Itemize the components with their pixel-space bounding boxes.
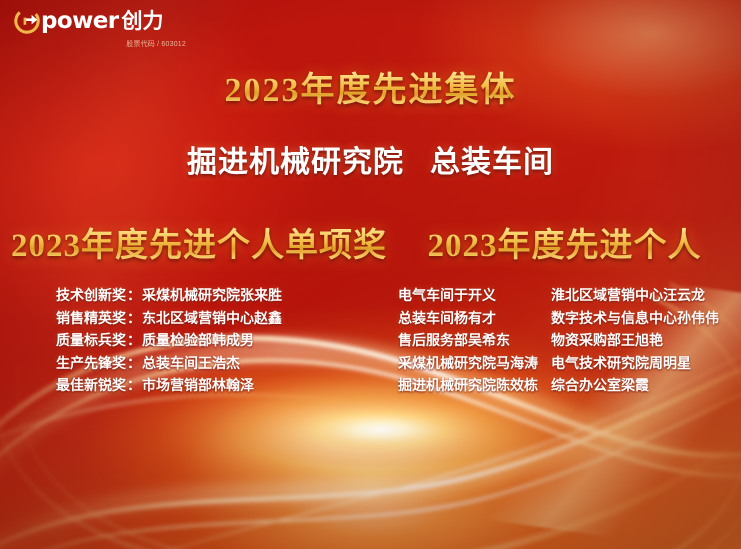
poster-content: 2023年度先进集体 掘进机械研究院总装车间 2023年度先进个人单项奖 202…	[0, 0, 741, 549]
heading-single-awards: 2023年度先进个人单项奖	[0, 218, 398, 266]
heading-advanced-individuals: 2023年度先进个人	[398, 218, 741, 266]
list-item: 总装车间杨有才 数字技术与信息中心孙伟伟	[398, 309, 741, 332]
winner-lists: 技术创新奖：采煤机械研究院张来胜 销售精英奖：东北区域营销中心赵鑫 质量标兵奖：…	[0, 286, 741, 399]
award-separator: ：	[127, 312, 141, 327]
page-title: 2023年度先进集体	[0, 62, 741, 111]
award-separator: ：	[127, 379, 141, 394]
logo-stock-code: 股票代码 / 603012	[14, 39, 186, 49]
award-recipient: 市场营销部林翰泽	[142, 379, 254, 394]
award-name: 生产先锋奖	[56, 357, 126, 372]
individual-name: 采煤机械研究院马海涛	[398, 354, 551, 377]
individual-name: 物资采购部王旭艳	[551, 331, 663, 354]
list-item: 销售精英奖：东北区域营销中心赵鑫	[56, 309, 398, 332]
individual-name: 电气技术研究院周明星	[551, 354, 691, 377]
award-poster: power 创力 股票代码 / 603012 2023年度先进集体 掘进机械研究…	[0, 0, 741, 549]
individual-name: 售后服务部吴希东	[398, 331, 551, 354]
individual-name: 电气车间于开义	[398, 286, 551, 309]
list-item: 售后服务部吴希东 物资采购部王旭艳	[398, 331, 741, 354]
award-name: 技术创新奖	[56, 289, 126, 304]
individual-name: 总装车间杨有才	[398, 309, 551, 332]
collective-winner-2: 总装车间	[430, 146, 554, 179]
logo-row: power 创力	[14, 8, 194, 34]
collective-winners: 掘进机械研究院总装车间	[0, 137, 741, 181]
award-name: 质量标兵奖	[56, 334, 126, 349]
award-recipient: 东北区域营销中心赵鑫	[142, 312, 282, 327]
award-separator: ：	[127, 289, 141, 304]
award-recipient: 采煤机械研究院张来胜	[142, 289, 282, 304]
company-logo: power 创力 股票代码 / 603012	[14, 8, 194, 49]
logo-wordmark: power	[41, 10, 118, 33]
award-name: 最佳新锐奖	[56, 379, 126, 394]
section-headings: 2023年度先进个人单项奖 2023年度先进个人	[0, 218, 741, 266]
list-item: 最佳新锐奖：市场营销部林翰泽	[56, 376, 398, 399]
award-separator: ：	[127, 334, 141, 349]
list-item: 电气车间于开义 淮北区域营销中心汪云龙	[398, 286, 741, 309]
list-item: 掘进机械研究院陈效栋 综合办公室梁霞	[398, 376, 741, 399]
award-recipient: 质量检验部韩成男	[142, 334, 254, 349]
list-item: 技术创新奖：采煤机械研究院张来胜	[56, 286, 398, 309]
award-name: 销售精英奖	[56, 312, 126, 327]
award-separator: ：	[127, 357, 141, 372]
list-item: 生产先锋奖：总装车间王浩杰	[56, 354, 398, 377]
advanced-individual-list: 电气车间于开义 淮北区域营销中心汪云龙 总装车间杨有才 数字技术与信息中心孙伟伟…	[398, 286, 741, 399]
list-item: 采煤机械研究院马海涛 电气技术研究院周明星	[398, 354, 741, 377]
list-item: 质量标兵奖：质量检验部韩成男	[56, 331, 398, 354]
individual-name: 掘进机械研究院陈效栋	[398, 376, 551, 399]
logo-wordmark-cn: 创力	[121, 11, 163, 32]
power-c-mark-icon	[14, 8, 40, 34]
individual-name: 淮北区域营销中心汪云龙	[551, 286, 705, 309]
individual-name: 数字技术与信息中心孙伟伟	[551, 309, 719, 332]
individual-name: 综合办公室梁霞	[551, 376, 649, 399]
award-recipient: 总装车间王浩杰	[142, 357, 240, 372]
single-award-list: 技术创新奖：采煤机械研究院张来胜 销售精英奖：东北区域营销中心赵鑫 质量标兵奖：…	[0, 286, 398, 399]
collective-winner-1: 掘进机械研究院	[187, 146, 404, 179]
